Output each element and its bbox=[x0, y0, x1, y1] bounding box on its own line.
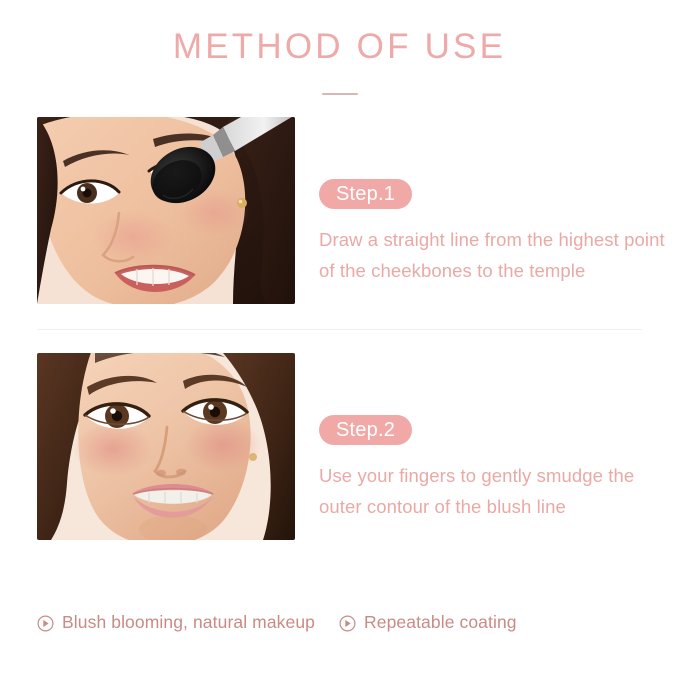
feature-bullet: Repeatable coating bbox=[339, 612, 517, 633]
steps-divider bbox=[37, 329, 642, 330]
page-header: METHOD OF USE bbox=[0, 0, 679, 95]
step-2-description: Use your fingers to gently smudge the ou… bbox=[319, 460, 679, 522]
step-1-badge: Step.1 bbox=[319, 179, 412, 209]
circled-play-arrow-icon bbox=[37, 615, 54, 632]
step-1-photo bbox=[37, 117, 295, 304]
step-1-text: Step.1 Draw a straight line from the hig… bbox=[295, 117, 679, 286]
woman-applying-blush-with-brush-illustration bbox=[37, 117, 295, 304]
step-2-text: Step.2 Use your fingers to gently smudge… bbox=[295, 353, 679, 522]
step-2-badge: Step.2 bbox=[319, 415, 412, 445]
feature-bullet-label: Blush blooming, natural makeup bbox=[62, 612, 315, 633]
feature-bullets: Blush blooming, natural makeup Repeatabl… bbox=[37, 612, 517, 633]
method-of-use-page: METHOD OF USE bbox=[0, 0, 679, 679]
title-underline-rule bbox=[322, 93, 358, 95]
feature-bullet: Blush blooming, natural makeup bbox=[37, 612, 315, 633]
circled-play-arrow-icon bbox=[339, 615, 356, 632]
step-row: Step.1 Draw a straight line from the hig… bbox=[0, 117, 679, 304]
page-title: METHOD OF USE bbox=[0, 28, 679, 67]
feature-bullet-label: Repeatable coating bbox=[364, 612, 517, 633]
step-2-photo bbox=[37, 353, 295, 540]
woman-with-blushed-cheeks-illustration bbox=[37, 353, 295, 540]
step-1-description: Draw a straight line from the highest po… bbox=[319, 224, 679, 286]
step-row: Step.2 Use your fingers to gently smudge… bbox=[0, 353, 679, 540]
steps-section: Step.1 Draw a straight line from the hig… bbox=[0, 117, 679, 540]
